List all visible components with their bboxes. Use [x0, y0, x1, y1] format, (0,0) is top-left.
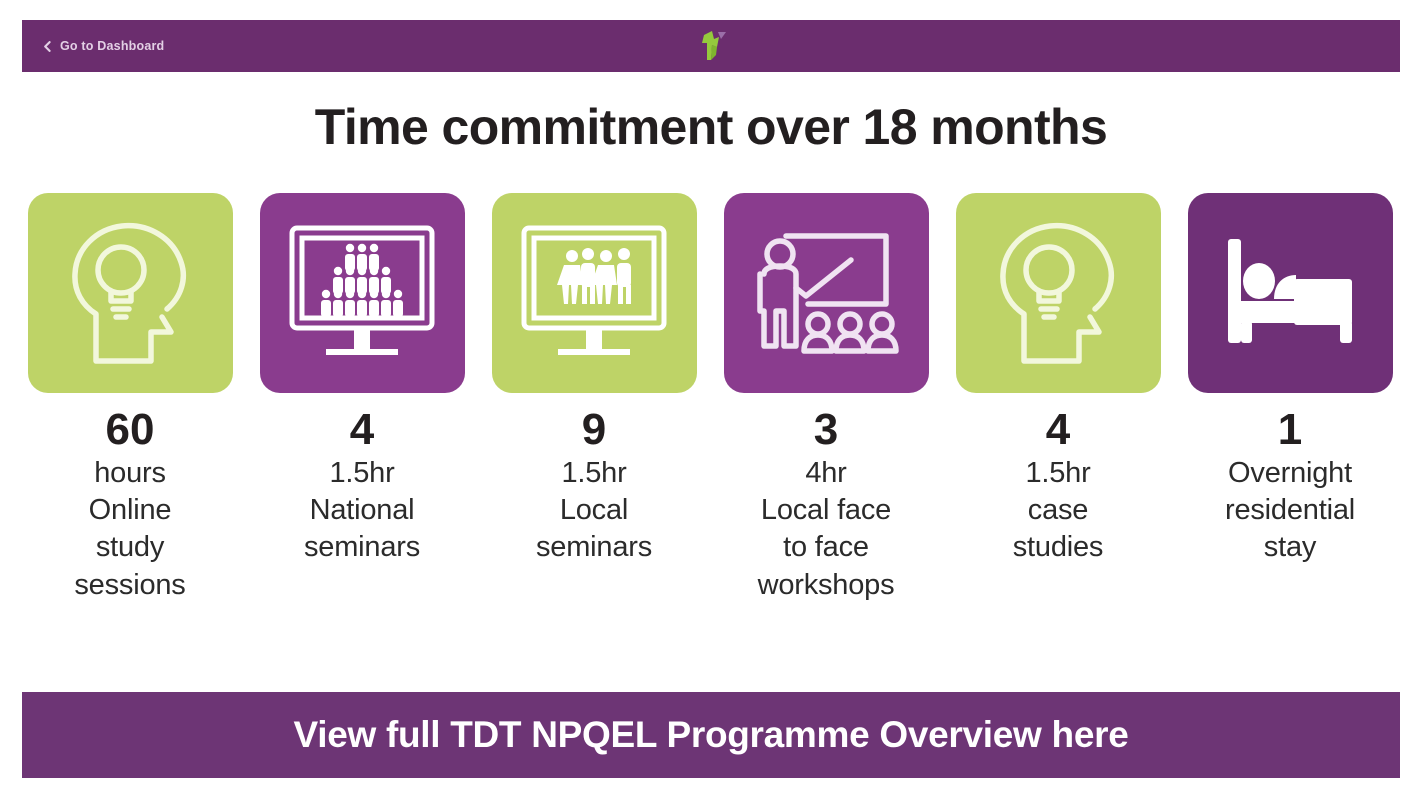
- head-lightbulb-icon: [983, 213, 1133, 373]
- stat-column: 60 hours Online study sessions: [14, 193, 246, 604]
- icon-tile: [1188, 193, 1393, 393]
- stat-number: 4: [350, 407, 374, 453]
- stat-number: 60: [106, 407, 155, 453]
- stat-caption: hours Online study sessions: [74, 455, 185, 603]
- bed-overnight-icon: [1210, 223, 1370, 363]
- icon-tile: [260, 193, 465, 393]
- stat-column: 3 4hr Local face to face workshops: [710, 193, 942, 604]
- stat-number: 3: [814, 407, 838, 453]
- icon-tile: [28, 193, 233, 393]
- view-programme-overview-label: View full TDT NPQEL Programme Overview h…: [294, 714, 1129, 756]
- stat-caption: 1.5hr case studies: [1013, 455, 1104, 566]
- stat-column: 4 1.5hr case studies: [942, 193, 1174, 567]
- icon-tile: [492, 193, 697, 393]
- head-lightbulb-icon: [55, 213, 205, 373]
- stat-column: 9 1.5hr Local seminars: [478, 193, 710, 567]
- go-to-dashboard-label: Go to Dashboard: [60, 39, 164, 53]
- icon-tile: [956, 193, 1161, 393]
- stat-caption: 1.5hr Local seminars: [536, 455, 652, 566]
- stat-number: 9: [582, 407, 606, 453]
- stat-caption: 4hr Local face to face workshops: [758, 455, 895, 603]
- tdt-leaf-logo-icon: [688, 26, 734, 66]
- top-bar: Go to Dashboard: [22, 20, 1400, 72]
- stats-row: 60 hours Online study sessions: [14, 193, 1408, 604]
- view-programme-overview-banner[interactable]: View full TDT NPQEL Programme Overview h…: [22, 692, 1400, 778]
- stat-caption: Overnight residential stay: [1225, 455, 1355, 566]
- stat-column: 1 Overnight residential stay: [1174, 193, 1406, 567]
- stat-caption: 1.5hr National seminars: [304, 455, 420, 566]
- monitor-four-people-icon: [514, 218, 674, 368]
- teacher-whiteboard-icon: [746, 216, 906, 371]
- go-to-dashboard-button[interactable]: Go to Dashboard: [42, 20, 164, 72]
- page-title: Time commitment over 18 months: [0, 100, 1422, 155]
- icon-tile: [724, 193, 929, 393]
- stat-column: 4 1.5hr National seminars: [246, 193, 478, 567]
- chevron-left-icon: [42, 41, 53, 52]
- programme-overview-page: Go to Dashboard Time commitment over 18 …: [0, 0, 1422, 804]
- monitor-crowd-icon: [282, 218, 442, 368]
- stat-number: 4: [1046, 407, 1070, 453]
- stat-number: 1: [1278, 407, 1302, 453]
